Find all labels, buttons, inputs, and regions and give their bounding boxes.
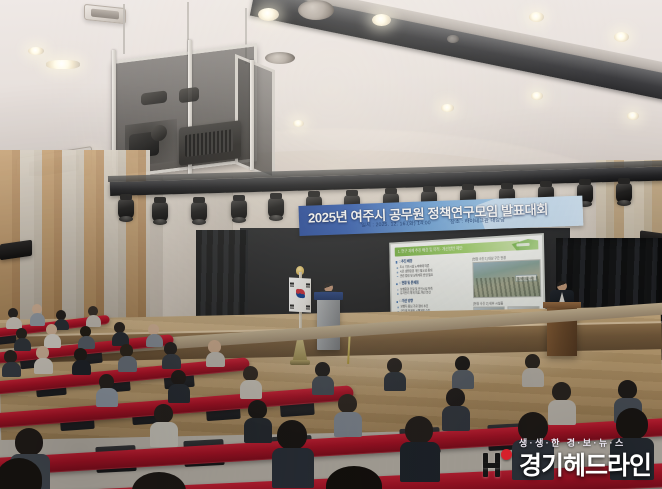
audience-member [30, 304, 45, 325]
audience-member [442, 388, 470, 430]
audience-member [72, 348, 91, 374]
audience-member [150, 404, 178, 446]
ceiling-vent-icon [298, 0, 334, 20]
audience-member [34, 346, 53, 373]
audience-seating-area [0, 300, 662, 489]
audience-member [86, 306, 101, 326]
slide-bullet: 관련 법령 및 상위계획 반영 필요 [396, 272, 460, 279]
downlight-icon [46, 60, 80, 69]
downlight-icon [293, 120, 304, 127]
projector-icon [179, 120, 241, 166]
audience-member [2, 350, 21, 376]
cage-equipment [179, 87, 199, 103]
audience-member [118, 344, 137, 371]
audience-member [0, 458, 54, 489]
audience-member [334, 394, 362, 436]
slide-bullet: 유지관리 체계 미흡, 예산 분산 [396, 290, 460, 296]
audience-member [78, 326, 95, 348]
slide-section: □ 현황 및 문제점 보행환경 단절 및 안전시설 부족 유지관리 체계 미흡,… [396, 280, 460, 296]
slide-photo-callout: 정비 대상 구간 [515, 274, 537, 282]
downlight-icon [531, 92, 543, 100]
downlight-icon [614, 32, 629, 42]
downlight-icon [28, 47, 44, 55]
slide-section: □ 추진 배경 도시 기반시설 노후화에 따른 시민 생활환경 개선 필요성 증… [396, 257, 460, 278]
audience-member [610, 408, 654, 478]
audience-member [244, 400, 272, 442]
downlight-icon [627, 112, 639, 120]
audience-member [400, 416, 440, 480]
downlight-icon [372, 14, 391, 26]
cage-side-frame [235, 54, 275, 180]
audience-member [6, 308, 22, 328]
downlight-icon [441, 104, 454, 112]
audience-member [206, 340, 225, 366]
audience-member [14, 328, 31, 350]
audience-member [272, 420, 314, 486]
audience-member [512, 412, 554, 478]
audience-member [162, 342, 181, 368]
audience-member [384, 358, 406, 390]
audience-member [132, 472, 194, 489]
stage-light-icon [191, 202, 207, 222]
banner-place: 장소 : 하이테크관 대강당 [450, 217, 505, 225]
stage-light-icon [118, 199, 134, 219]
downlight-icon [258, 8, 279, 21]
audience-member [326, 466, 390, 489]
ceiling-vent-icon [447, 35, 459, 43]
auditorium-presentation-photo: 2025년 여주시 공무원 정책연구모임 발표대회 일시 : 2025. 12.… [0, 0, 662, 489]
slide-header-title: 1. 연구 과제 추진 배경 및 목적 · 개선방안 제안 [398, 245, 463, 254]
banner-date: 일시 : 2025. 12. 16.(화) 14:00 [361, 220, 431, 229]
audience-member [240, 366, 262, 398]
stage-light-icon [268, 198, 284, 218]
taeguk-symbol-icon [296, 289, 305, 298]
audience-member [452, 356, 474, 388]
stage-light-icon [152, 202, 168, 222]
audience-member [522, 354, 544, 386]
air-conditioner-unit [84, 4, 126, 24]
stage-light-icon [616, 183, 632, 203]
audience-member [168, 370, 190, 402]
audience-member [146, 324, 163, 346]
audience-member [312, 362, 334, 394]
stage-light-icon [231, 200, 247, 220]
audience-member [44, 324, 61, 347]
slide-photo-main: 정비 대상 구간 [472, 259, 541, 298]
audience-member [112, 322, 129, 345]
downlight-icon [529, 12, 544, 22]
audience-member [96, 374, 118, 406]
